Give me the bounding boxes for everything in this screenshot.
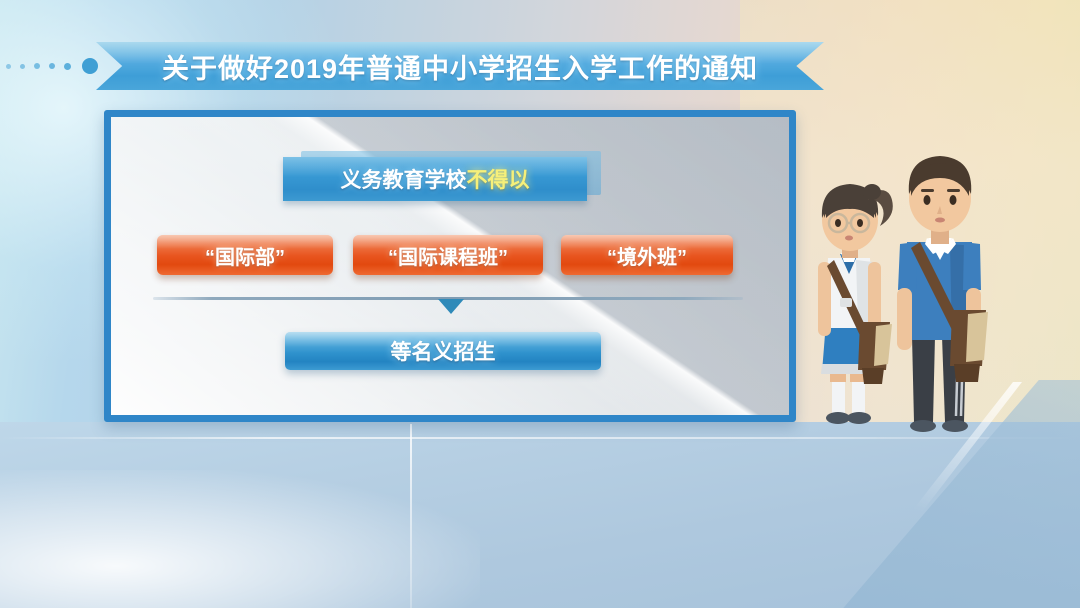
girl-student xyxy=(818,184,893,424)
headline-highlight: 不得以 xyxy=(467,169,530,192)
prohibited-item-1: “国际部” xyxy=(157,235,333,275)
leader-dots-icon xyxy=(6,58,98,74)
prohibited-item-1-label: “国际部” xyxy=(205,241,285,270)
headline-text: 义务教育学校不得以 xyxy=(341,164,530,194)
floor-seam xyxy=(410,424,412,608)
boy-student xyxy=(897,156,988,432)
prohibited-item-3: “境外班” xyxy=(561,235,733,275)
banner-title: 关于做好2019年普通中小学招生入学工作的通知 xyxy=(162,47,758,86)
title-banner: 关于做好2019年普通中小学招生入学工作的通知 xyxy=(96,42,824,90)
two-students-illustration xyxy=(800,150,1020,440)
prohibited-item-3-label: “境外班” xyxy=(607,241,687,270)
down-arrow-icon xyxy=(438,299,464,314)
prohibited-item-2: “国际课程班” xyxy=(353,235,543,275)
scene-root: 关于做好2019年普通中小学招生入学工作的通知 义务教育学校不得以 “国际部” … xyxy=(0,0,1080,608)
floor-glow xyxy=(0,470,480,608)
content-panel: 义务教育学校不得以 “国际部” “国际课程班” “境外班” 等名义招生 xyxy=(104,110,796,422)
prohibited-item-2-label: “国际课程班” xyxy=(388,241,508,270)
headline-prefix: 义务教育学校 xyxy=(341,169,467,192)
headline-chip: 义务教育学校不得以 xyxy=(283,157,601,201)
headline-chip-body: 义务教育学校不得以 xyxy=(283,157,587,201)
conclusion-label: 等名义招生 xyxy=(391,336,496,366)
conclusion-chip: 等名义招生 xyxy=(285,332,601,370)
